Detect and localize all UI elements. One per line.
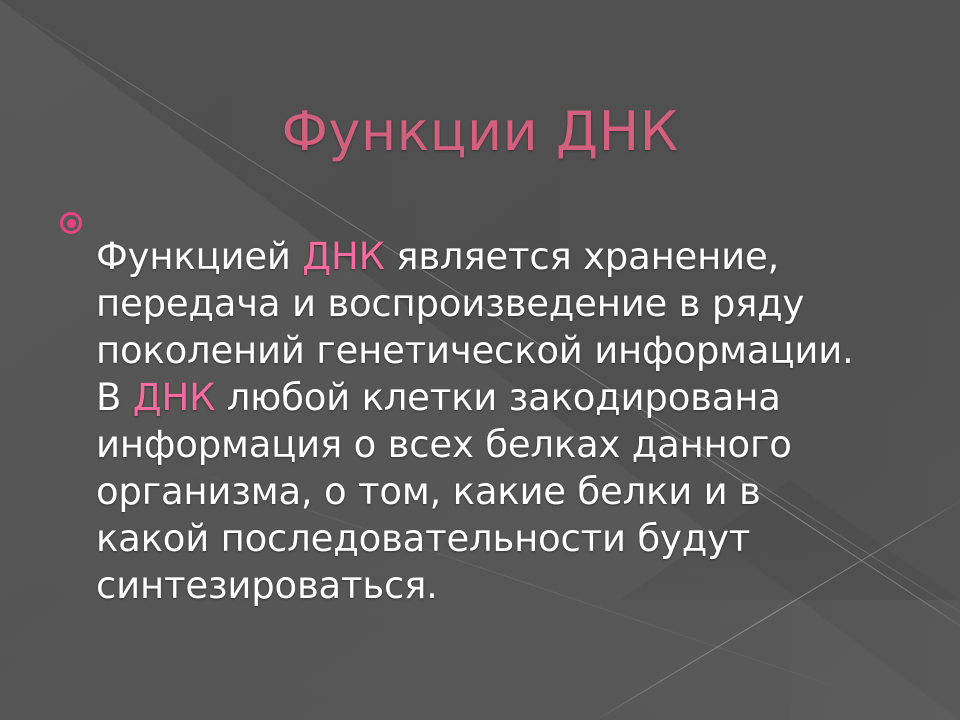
body-paragraph: Функцией ДНК является хранение, передача… [96, 233, 866, 609]
slide-title: Функции ДНК [0, 102, 960, 161]
body-highlight-term: ДНК [133, 376, 215, 419]
body-text-run: Функцией [96, 235, 302, 278]
body-highlight-term: ДНК [302, 235, 384, 278]
ring-bullet-icon [60, 212, 82, 234]
presentation-slide: Функции ДНК Функцией ДНК является хранен… [0, 0, 960, 720]
slide-body: Функцией ДНК является хранение, передача… [60, 196, 908, 646]
